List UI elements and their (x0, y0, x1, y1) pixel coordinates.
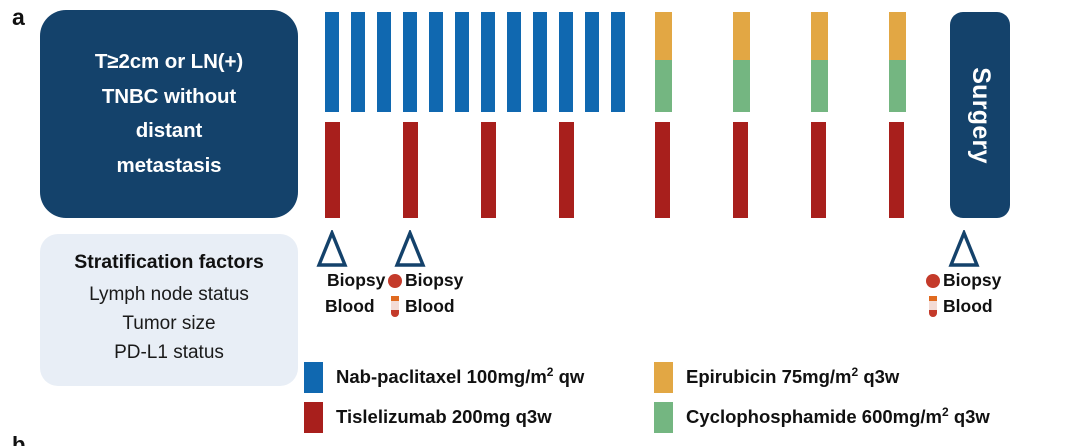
legend-item-epirubicin: Epirubicin 75mg/m2 q3w (654, 362, 899, 393)
cyclophosphamide-segment (889, 60, 906, 112)
timepoint-label: Blood (405, 298, 455, 316)
nab-paclitaxel-bar (429, 12, 443, 112)
timepoint-label: Biopsy (327, 272, 385, 290)
epirubicin-cyclophosphamide-bar (733, 12, 750, 112)
legend-item-nab-paclitaxel: Nab-paclitaxel 100mg/m2 qw (304, 362, 584, 393)
legend: Nab-paclitaxel 100mg/m2 qw Tislelizumab … (304, 362, 1074, 434)
timepoint-row-biopsy: Biopsy (926, 270, 1001, 291)
timepoint-baseline: Biopsy Blood (316, 230, 385, 317)
legend-dose: 200mg (452, 406, 511, 427)
timepoint-row-biopsy: Biopsy (388, 270, 463, 291)
epirubicin-cyclophosphamide-bar (655, 12, 672, 112)
legend-dose: 600mg/m (862, 406, 942, 427)
legend-drug: Cyclophosphamide (686, 406, 857, 427)
legend-dose: 75mg/m (782, 366, 852, 387)
legend-drug: Tislelizumab (336, 406, 447, 427)
epirubicin-segment (811, 12, 828, 60)
legend-swatch-cyclophosphamide (654, 402, 673, 433)
legend-swatch-tislelizumab (304, 402, 323, 433)
nab-paclitaxel-bar (559, 12, 573, 112)
timepoint-cycle-1: Biopsy Blood (394, 230, 463, 317)
legend-swatch-nab-paclitaxel (304, 362, 323, 393)
epirubicin-segment (889, 12, 906, 60)
legend-label-cyclophosphamide: Cyclophosphamide 600mg/m2 q3w (686, 408, 990, 427)
nab-paclitaxel-bar (585, 12, 599, 112)
epirubicin-segment (733, 12, 750, 60)
triangle-outline-icon (948, 230, 980, 268)
tislelizumab-bar (325, 122, 340, 218)
stratification-factors-box: Stratification factors Lymph node status… (40, 234, 298, 386)
timepoint-label: Biopsy (405, 272, 463, 290)
timepoint-label: Biopsy (943, 272, 1001, 290)
surgery-box: Surgery (950, 12, 1010, 218)
eligibility-line: TNBC without (102, 87, 236, 108)
legend-drug: Epirubicin (686, 366, 776, 387)
epirubicin-cyclophosphamide-bar (889, 12, 906, 112)
nab-paclitaxel-bar (325, 12, 339, 112)
timepoint-row-biopsy: Biopsy (310, 270, 385, 291)
panel-letter-b: b (12, 434, 25, 446)
blood-tube-icon (928, 296, 938, 318)
tislelizumab-bar (655, 122, 670, 218)
nab-paclitaxel-bar (377, 12, 391, 112)
panel-letter-a: a (12, 6, 25, 29)
stratification-item: Lymph node status (89, 285, 249, 304)
tislelizumab-bar (889, 122, 904, 218)
stratification-item: Tumor size (122, 314, 215, 333)
legend-exponent: 2 (547, 365, 554, 379)
timepoint-row-blood: Blood (310, 296, 385, 317)
biopsy-dot-icon (388, 274, 402, 288)
biopsy-dot-icon (926, 274, 940, 288)
legend-schedule: q3w (954, 406, 990, 427)
eligibility-line: metastasis (117, 156, 222, 177)
tislelizumab-bar (811, 122, 826, 218)
timepoint-label: Blood (325, 298, 375, 316)
legend-label-tislelizumab: Tislelizumab 200mg q3w (336, 408, 552, 427)
nab-paclitaxel-bar (507, 12, 521, 112)
cyclophosphamide-segment (733, 60, 750, 112)
eligibility-criteria-box: T≥2cm or LN(+) TNBC without distant meta… (40, 10, 298, 218)
tislelizumab-bar (559, 122, 574, 218)
cyclophosphamide-segment (655, 60, 672, 112)
nab-paclitaxel-bar (455, 12, 469, 112)
legend-schedule: qw (559, 366, 585, 387)
legend-swatch-epirubicin (654, 362, 673, 393)
nab-paclitaxel-bar (481, 12, 495, 112)
blood-tube-icon (390, 296, 400, 318)
tislelizumab-bar (403, 122, 418, 218)
tislelizumab-bar (733, 122, 748, 218)
legend-item-tislelizumab: Tislelizumab 200mg q3w (304, 402, 552, 433)
trial-schema-figure: a b T≥2cm or LN(+) TNBC without distant … (0, 0, 1080, 446)
tislelizumab-bar (481, 122, 496, 218)
epirubicin-segment (655, 12, 672, 60)
triangle-outline-icon (394, 230, 426, 268)
surgery-label: Surgery (966, 67, 995, 164)
nab-paclitaxel-bar (611, 12, 625, 112)
triangle-outline-icon (316, 230, 348, 268)
epirubicin-cyclophosphamide-bar (811, 12, 828, 112)
legend-exponent: 2 (942, 405, 949, 419)
legend-label-epirubicin: Epirubicin 75mg/m2 q3w (686, 368, 899, 387)
legend-schedule: q3w (863, 366, 899, 387)
timepoint-pre-surgery: Biopsy Blood (948, 230, 1001, 317)
legend-dose: 100mg/m (467, 366, 547, 387)
stratification-title: Stratification factors (74, 253, 264, 273)
legend-drug: Nab-paclitaxel (336, 366, 461, 387)
cyclophosphamide-segment (811, 60, 828, 112)
timepoint-label: Blood (943, 298, 993, 316)
nab-paclitaxel-bar (533, 12, 547, 112)
eligibility-line: T≥2cm or LN(+) (95, 52, 243, 73)
timepoint-row-blood: Blood (390, 296, 463, 317)
legend-label-nab-paclitaxel: Nab-paclitaxel 100mg/m2 qw (336, 368, 584, 387)
nab-paclitaxel-bar (403, 12, 417, 112)
legend-schedule: q3w (516, 406, 552, 427)
timepoint-row-blood: Blood (928, 296, 1001, 317)
nab-paclitaxel-bar (351, 12, 365, 112)
legend-item-cyclophosphamide: Cyclophosphamide 600mg/m2 q3w (654, 402, 990, 433)
stratification-item: PD-L1 status (114, 343, 224, 362)
legend-exponent: 2 (852, 365, 859, 379)
eligibility-line: distant (136, 121, 203, 142)
